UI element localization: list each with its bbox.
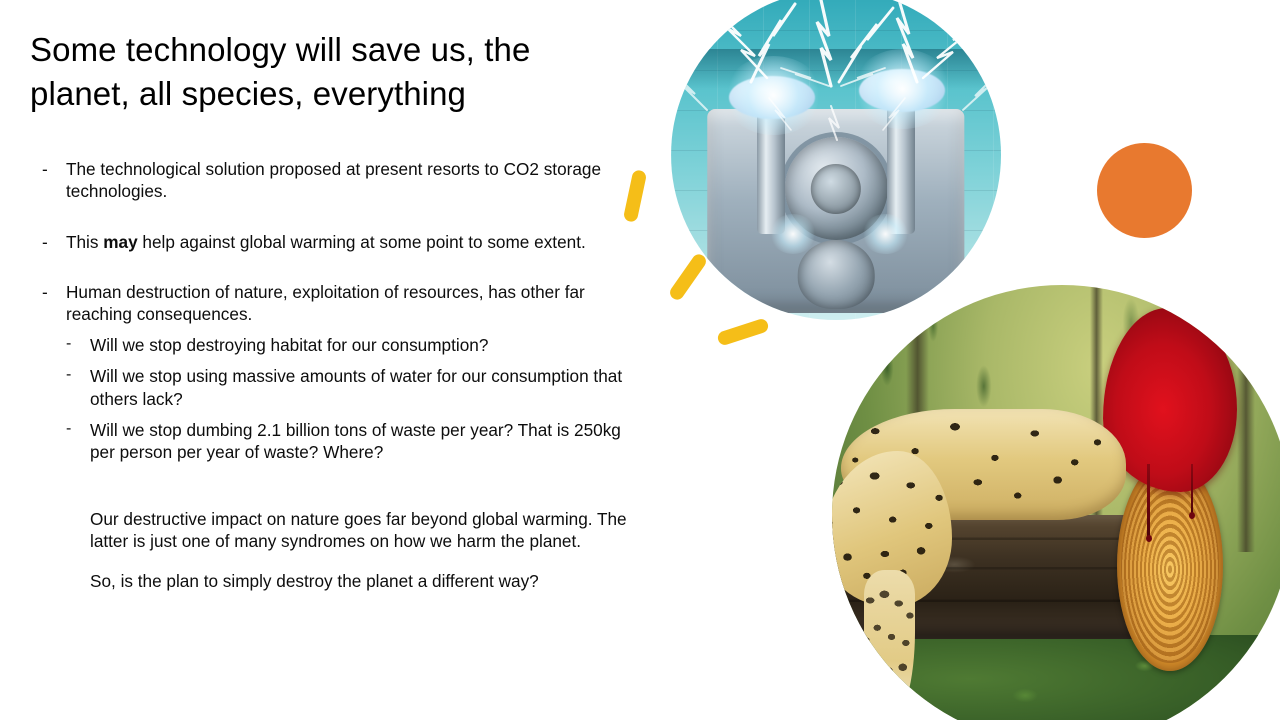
yellow-dash-decoration-3 (716, 317, 770, 346)
bullet-dash-icon: - (42, 158, 48, 180)
sub-bullet-dash-icon: - (66, 334, 71, 355)
bullet-item-2: - This may help against global warming a… (30, 231, 650, 253)
orange-circle-decoration (1097, 143, 1192, 238)
lightning-arcs-icon (671, 0, 1001, 320)
closing-paragraph-1: Our destructive impact on nature goes fa… (90, 508, 642, 553)
sub-bullet-dash-icon: - (66, 419, 71, 440)
bullet-item-3: - Human destruction of nature, exploitat… (30, 281, 650, 326)
bullet-text-3: Human destruction of nature, exploitatio… (66, 281, 650, 326)
bullet-text-2: This may help against global warming at … (66, 231, 650, 253)
bullet-text-2-emphasis: may (103, 232, 137, 252)
sub-bullet-item-1: - Will we stop destroying habitat for ou… (60, 334, 650, 356)
blood-drip-2 (1191, 464, 1194, 515)
sub-bullet-item-3: - Will we stop dumbing 2.1 billion tons … (60, 419, 650, 464)
leopard-leg (864, 570, 915, 720)
bullet-text-2-after: help against global warming at some poin… (138, 232, 586, 252)
sub-bullet-text-3: Will we stop dumbing 2.1 billion tons of… (90, 419, 650, 464)
sub-bullet-item-2: - Will we stop using massive amounts of … (60, 365, 650, 410)
leopard-on-cut-log-photo (832, 285, 1280, 720)
presentation-slide: Some technology will save us, the planet… (0, 0, 1280, 720)
sub-bullet-list: - Will we stop destroying habitat for ou… (30, 334, 650, 464)
blood-drip-1 (1147, 464, 1150, 538)
bullet-dash-icon: - (42, 231, 48, 253)
closing-paragraph-2: So, is the plan to simply destroy the pl… (90, 570, 642, 592)
electric-machine-photo (671, 0, 1001, 320)
sub-bullet-text-2: Will we stop using massive amounts of wa… (90, 365, 650, 410)
sub-bullet-text-1: Will we stop destroying habitat for our … (90, 334, 650, 356)
bullet-item-1: - The technological solution proposed at… (30, 158, 650, 203)
slide-body: - The technological solution proposed at… (30, 158, 650, 611)
bullet-dash-icon: - (42, 281, 48, 303)
bullet-text-1: The technological solution proposed at p… (66, 158, 650, 203)
sub-bullet-dash-icon: - (66, 365, 71, 386)
log-cut-surface (1117, 460, 1223, 672)
slide-title: Some technology will save us, the planet… (30, 28, 620, 115)
bullet-text-2-before: This (66, 232, 103, 252)
